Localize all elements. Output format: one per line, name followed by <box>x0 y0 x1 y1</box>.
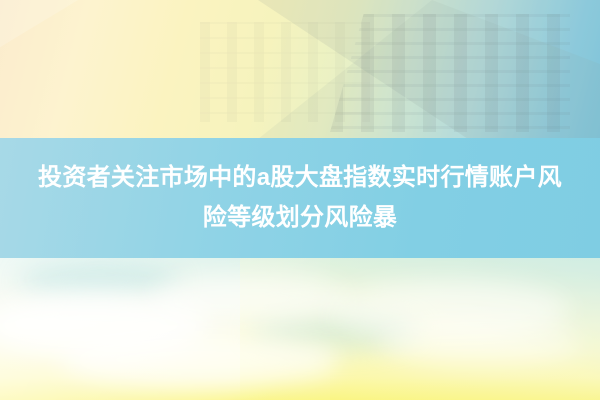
banner-title-line-2: 险等级划分风险暴 <box>203 198 397 238</box>
title-band: 投资者关注市场中的a股大盘指数实时行情账户风 险等级划分风险暴 <box>0 138 600 258</box>
bottom-gradient-panel <box>0 258 600 400</box>
cloud-shape-icon <box>380 320 580 366</box>
cloud-shape-icon <box>60 332 340 388</box>
cloud-shape-icon <box>150 274 350 326</box>
banner-image: 投资者关注市场中的a股大盘指数实时行情账户风 险等级划分风险暴 <box>0 0 600 400</box>
banner-title-line-1: 投资者关注市场中的a股大盘指数实时行情账户风 <box>38 158 562 198</box>
top-gradient-panel <box>0 0 600 139</box>
ghost-data-table-texture-secondary <box>200 22 370 122</box>
